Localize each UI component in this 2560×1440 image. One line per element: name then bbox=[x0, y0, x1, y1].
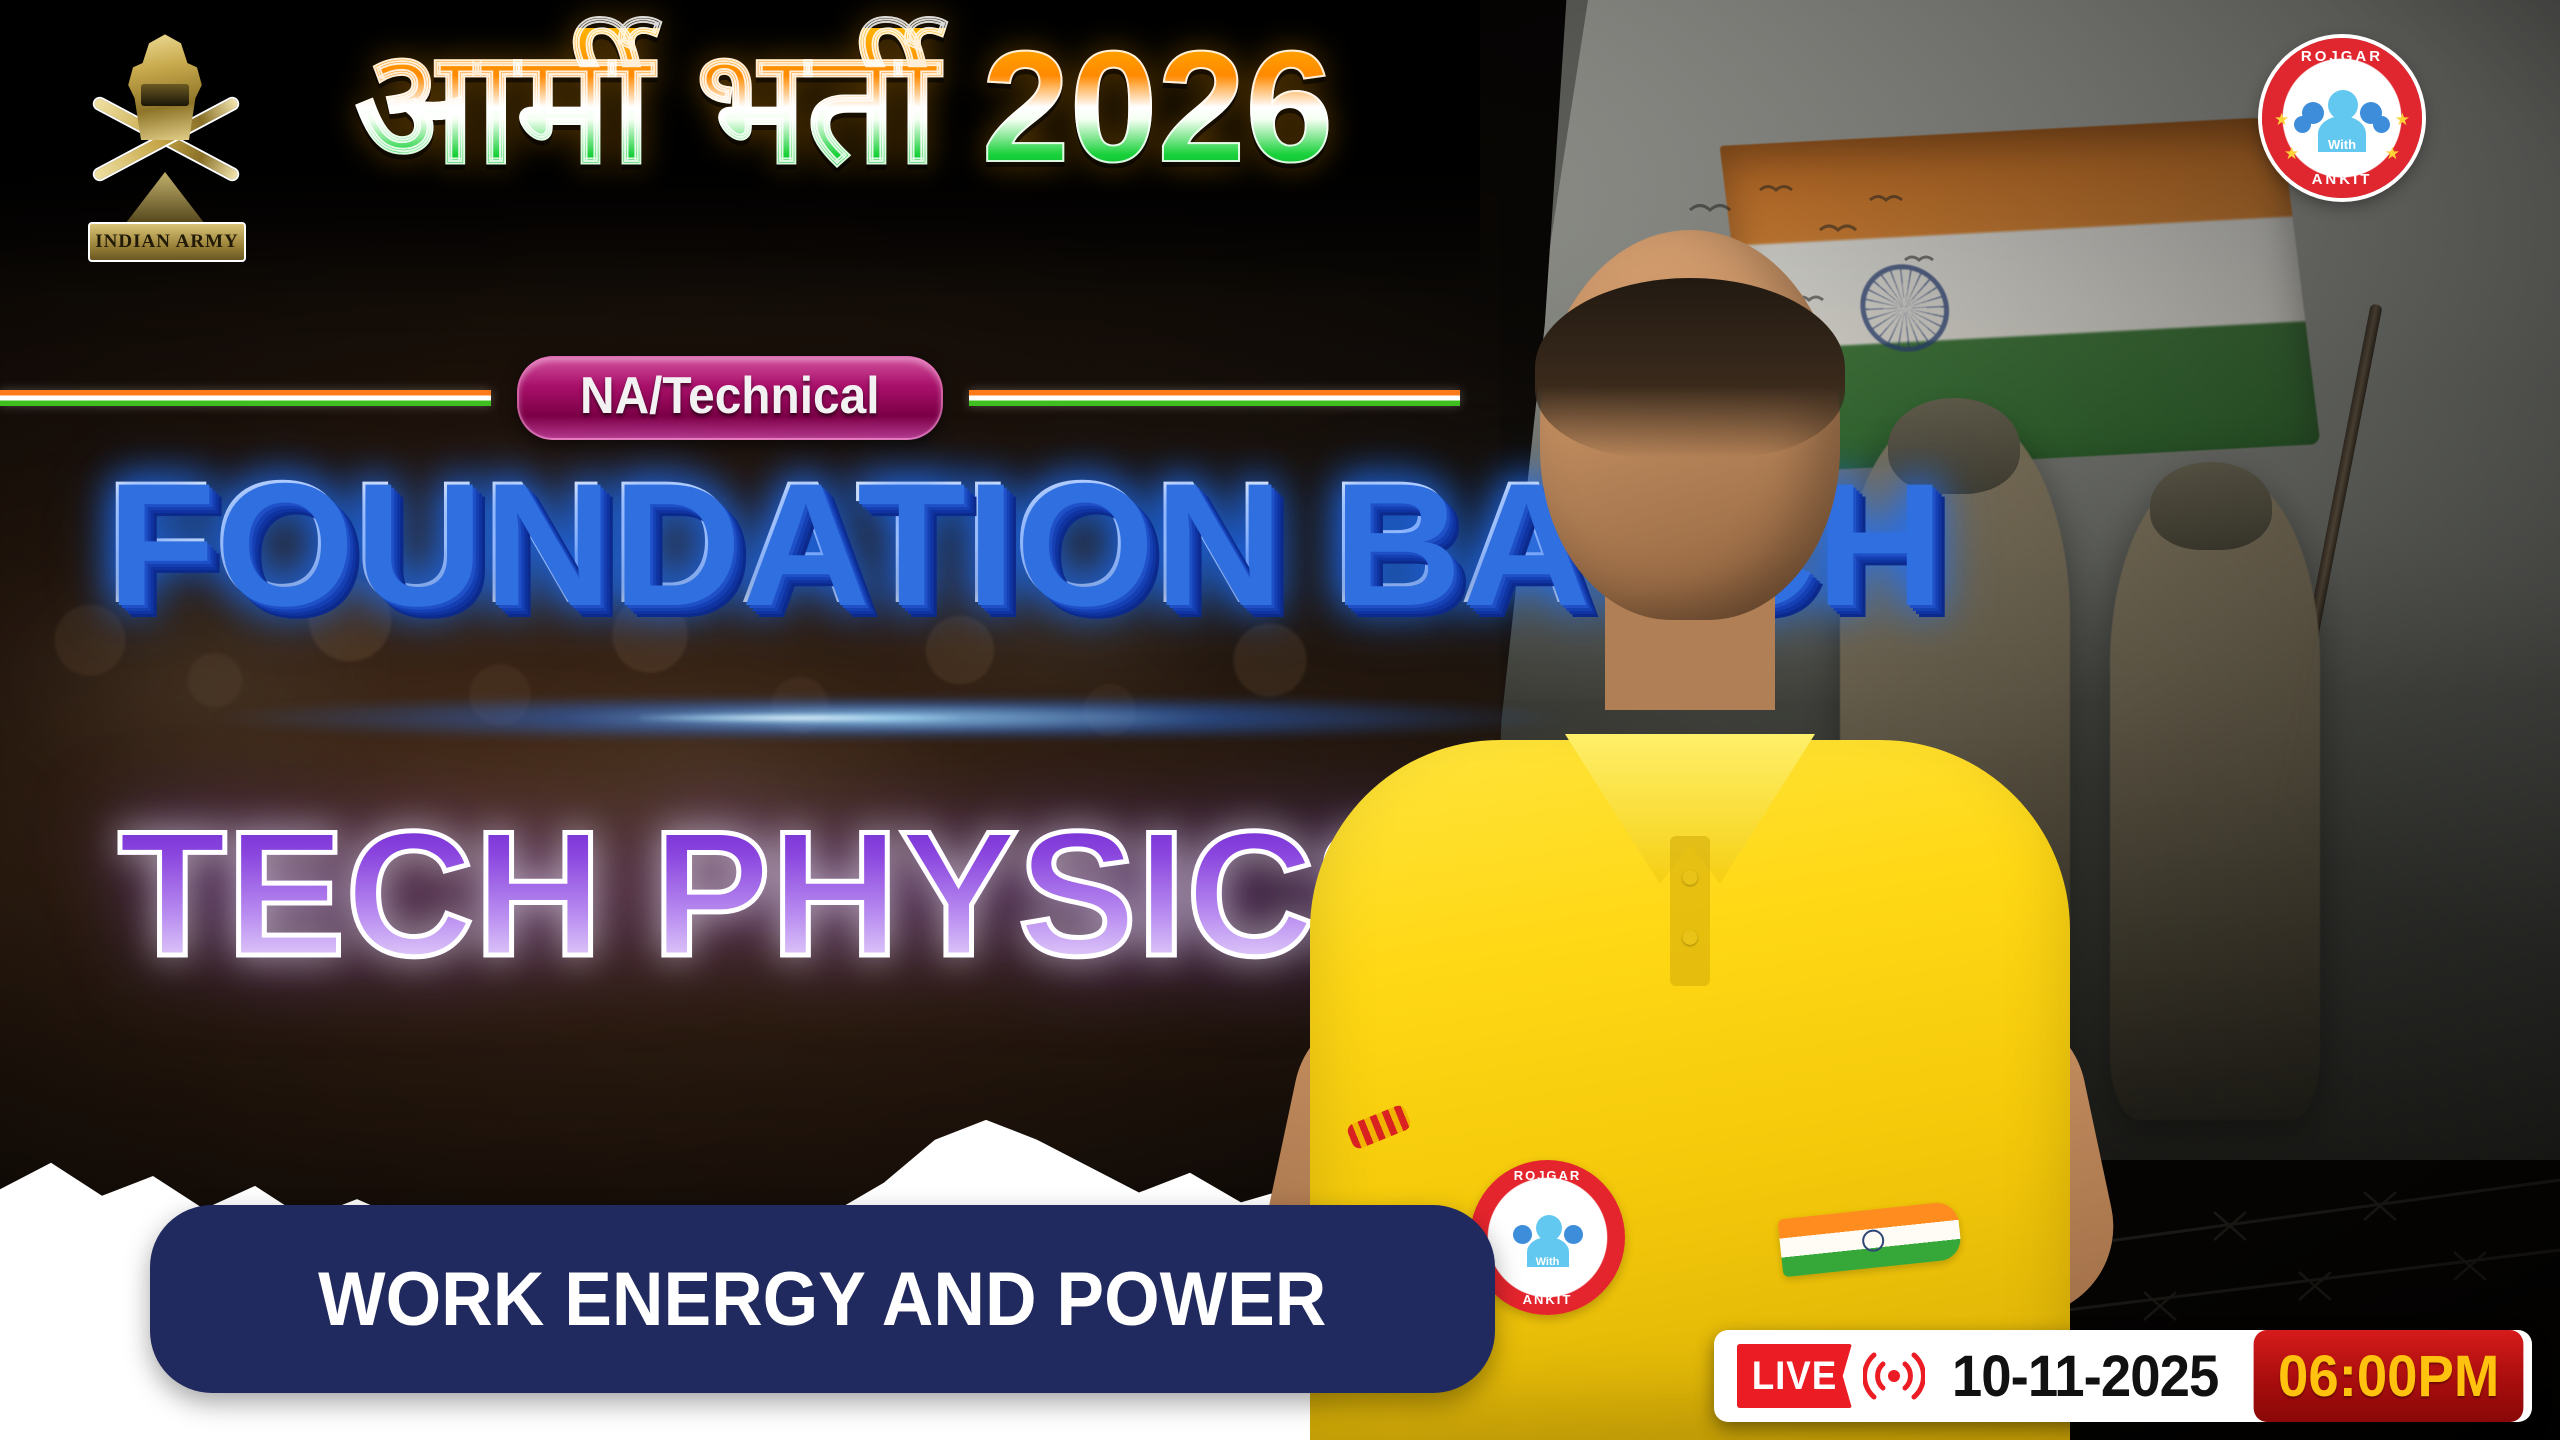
category-badge: NA/Technical bbox=[517, 356, 943, 440]
shirt-button bbox=[1683, 870, 1698, 885]
emblem-triangle bbox=[122, 172, 208, 228]
poster-canvas: INDIAN ARMY ROJGAR ANKIT ★ ★ ★ ★ With आर… bbox=[0, 0, 2560, 1440]
star-icon: ★ bbox=[2274, 110, 2289, 130]
topic-title: WORK ENERGY AND POWER bbox=[318, 1256, 1326, 1343]
instructor-head bbox=[1540, 230, 1840, 620]
broadcast-icon bbox=[1857, 1330, 1939, 1422]
brand-logo-center-text: With bbox=[2328, 137, 2356, 152]
emblem-base-plate: INDIAN ARMY bbox=[88, 222, 246, 262]
hindi-title-text: आर्मी भर्ती 2026 bbox=[355, 28, 1333, 186]
army-emblem-label: INDIAN ARMY bbox=[95, 231, 238, 253]
star-icon: ★ bbox=[2395, 110, 2410, 130]
indian-army-emblem-icon: INDIAN ARMY bbox=[70, 22, 260, 292]
brand-logo-top-text: ROJGAR bbox=[2262, 48, 2422, 65]
live-label: LIVE bbox=[1737, 1344, 1852, 1408]
brand-logo-bottom-text: ANKIT bbox=[2262, 171, 2422, 188]
shirt-logo-center-text: With bbox=[1536, 1256, 1560, 1268]
category-badge-label: NA/Technical bbox=[580, 366, 880, 426]
live-time: 06:00PM bbox=[2253, 1330, 2523, 1422]
tricolor-divider-left bbox=[0, 390, 491, 406]
instructor-hair bbox=[1535, 278, 1845, 458]
live-date: 10-11-2025 bbox=[1948, 1330, 2235, 1422]
shirt-flag-icon bbox=[1777, 1201, 1962, 1277]
shirt-logo-top-text: ROJGAR bbox=[1470, 1168, 1625, 1183]
glow-divider-core bbox=[640, 714, 960, 722]
topic-banner: WORK ENERGY AND POWER bbox=[150, 1205, 1495, 1393]
shirt-placket bbox=[1670, 836, 1710, 986]
rojgar-with-ankit-logo: ROJGAR ANKIT ★ ★ ★ ★ With bbox=[2262, 38, 2422, 198]
live-schedule-badge: LIVE 10-11-2025 06:00PM bbox=[1714, 1330, 2532, 1422]
shirt-button bbox=[1683, 930, 1698, 945]
